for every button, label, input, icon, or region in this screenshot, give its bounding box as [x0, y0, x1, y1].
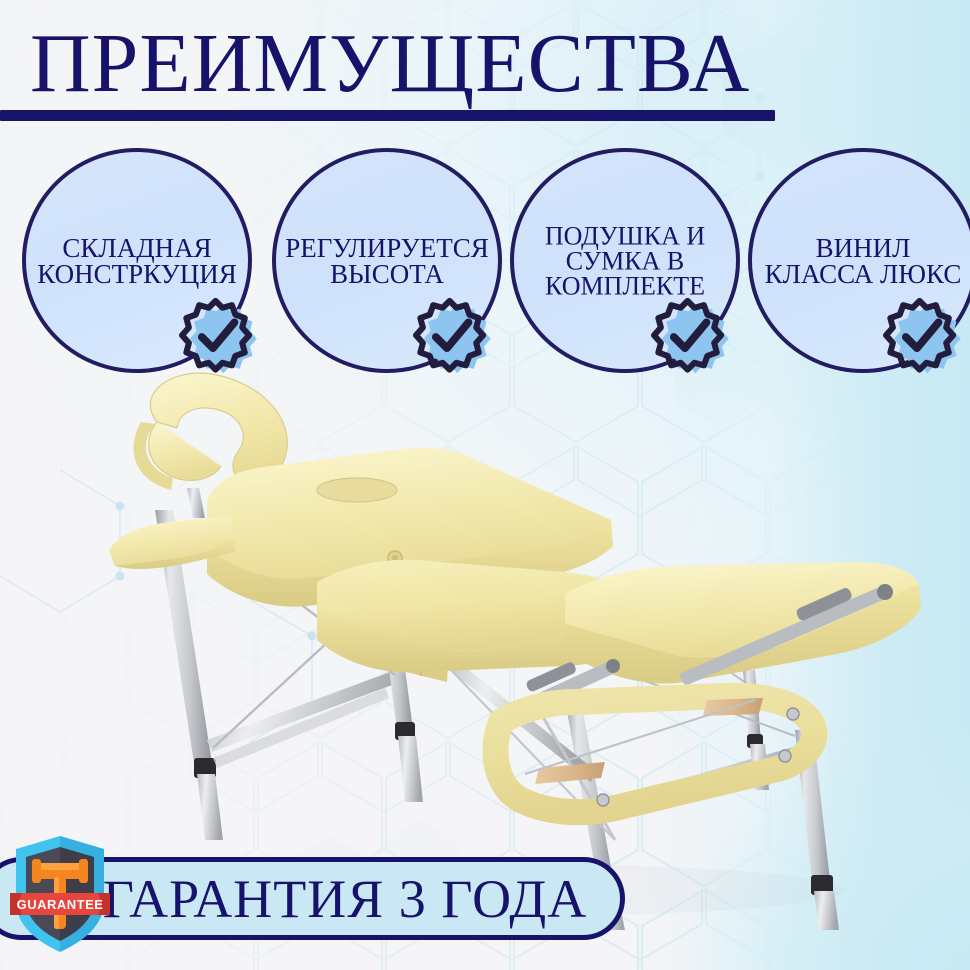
leg-rest-frame: [495, 696, 814, 812]
guarantee-banner-text: ГАРАНТИЯ 3 ГОДА: [95, 857, 595, 940]
title-underline-rule: [0, 110, 775, 121]
infographic-canvas: ПРЕИМУЩЕСТВА СКЛАДНАЯ КОНСТРКУЦИЯ РЕГУЛИ…: [0, 0, 970, 970]
feature-label-pillow-and-bag: ПОДУШКА И СУМКА В КОМПЛЕКТЕ: [500, 223, 750, 298]
check-seal-icon-2: [410, 294, 496, 380]
guarantee-shield-icon: GUARANTEE: [8, 833, 112, 955]
guarantee-ribbon-text: GUARANTEE: [17, 897, 104, 912]
check-seal-icon-1: [176, 294, 262, 380]
check-seal-icon-4: [880, 294, 966, 380]
feature-label-luxury-vinyl: ВИНИЛ КЛАССА ЛЮКС: [738, 235, 970, 287]
check-seal-icon-3: [648, 294, 734, 380]
product-image-massage-table: [95, 370, 935, 930]
feature-label-folding-construction: СКЛАДНАЯ КОНСТРКУЦИЯ: [12, 235, 262, 287]
feature-label-adjustable-height: РЕГУЛИРУЕТСЯ ВЫСОТА: [262, 235, 512, 287]
page-title: ПРЕИМУЩЕСТВА: [30, 22, 750, 106]
